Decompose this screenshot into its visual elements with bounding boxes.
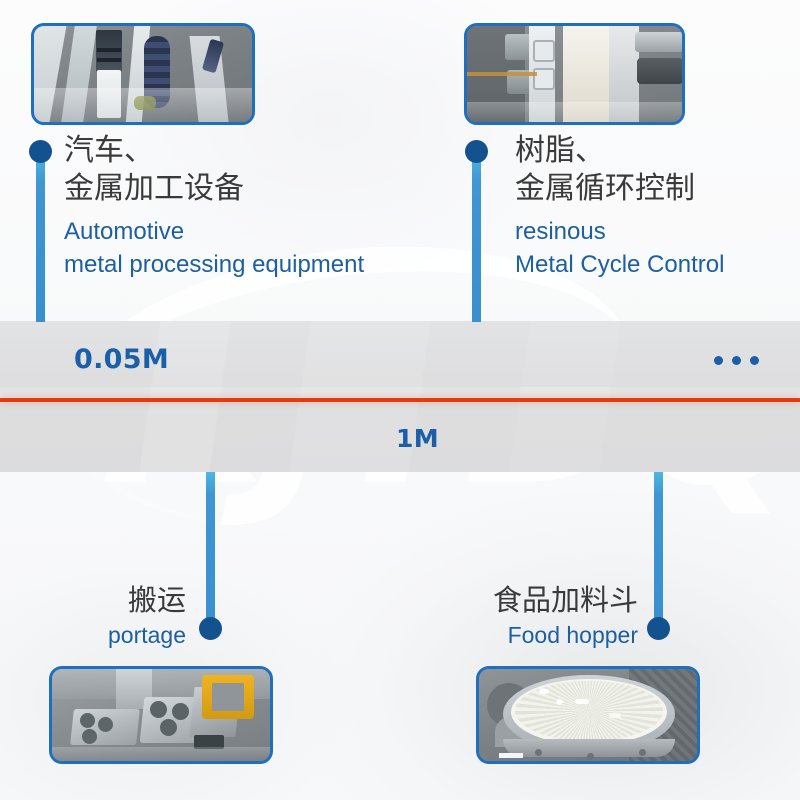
connector-line-food-hopper bbox=[654, 472, 663, 632]
thumbnail-automotive[interactable] bbox=[31, 23, 255, 125]
photo-cnc-drilling bbox=[34, 26, 252, 122]
infographic-canvas: KJTDQ ® 凯 0.05M 1M bbox=[0, 0, 800, 800]
label-cn-line-2: 金属加工设备 bbox=[64, 170, 364, 208]
label-cn-line-1: 食品加料斗 bbox=[380, 582, 638, 618]
photo-engine-blocks bbox=[52, 669, 270, 761]
connector-line-resin bbox=[472, 152, 481, 322]
photo-food-hopper bbox=[479, 669, 697, 761]
label-block-resin: 树脂、 金属循环控制 resinous Metal Cycle Control bbox=[515, 132, 724, 281]
photo-resin-rollers bbox=[467, 26, 682, 122]
label-cn-line-1: 汽车、 bbox=[64, 132, 364, 170]
label-en-line-2: metal processing equipment bbox=[64, 248, 364, 281]
connector-knob-automotive bbox=[29, 140, 52, 163]
connector-knob-food-hopper bbox=[647, 617, 670, 640]
more-ranges-ellipsis-icon bbox=[714, 356, 759, 365]
label-en-line-1: portage bbox=[0, 620, 186, 650]
range-label-lower: 1M bbox=[396, 424, 439, 453]
label-en-line-1: Food hopper bbox=[380, 620, 638, 650]
connector-knob-portage bbox=[199, 617, 222, 640]
label-en-line-2: Metal Cycle Control bbox=[515, 248, 724, 281]
range-label-upper: 0.05M bbox=[74, 344, 169, 375]
range-divider-line bbox=[0, 398, 800, 402]
connector-line-portage bbox=[206, 472, 215, 632]
thumbnail-food-hopper[interactable] bbox=[476, 666, 700, 764]
label-cn-line-2: 金属循环控制 bbox=[515, 170, 724, 208]
thumbnail-portage[interactable] bbox=[49, 666, 273, 764]
connector-knob-resin bbox=[465, 140, 488, 163]
thumbnail-resin[interactable] bbox=[464, 23, 685, 125]
label-cn-line-1: 树脂、 bbox=[515, 132, 724, 170]
label-en-line-1: Automotive bbox=[64, 215, 364, 248]
connector-line-automotive bbox=[36, 152, 45, 322]
label-block-portage: 搬运 portage bbox=[0, 582, 186, 650]
label-block-food-hopper: 食品加料斗 Food hopper bbox=[380, 582, 638, 650]
label-en-line-1: resinous bbox=[515, 215, 724, 248]
label-block-automotive: 汽车、 金属加工设备 Automotive metal processing e… bbox=[64, 132, 364, 281]
label-cn-line-1: 搬运 bbox=[0, 582, 186, 618]
